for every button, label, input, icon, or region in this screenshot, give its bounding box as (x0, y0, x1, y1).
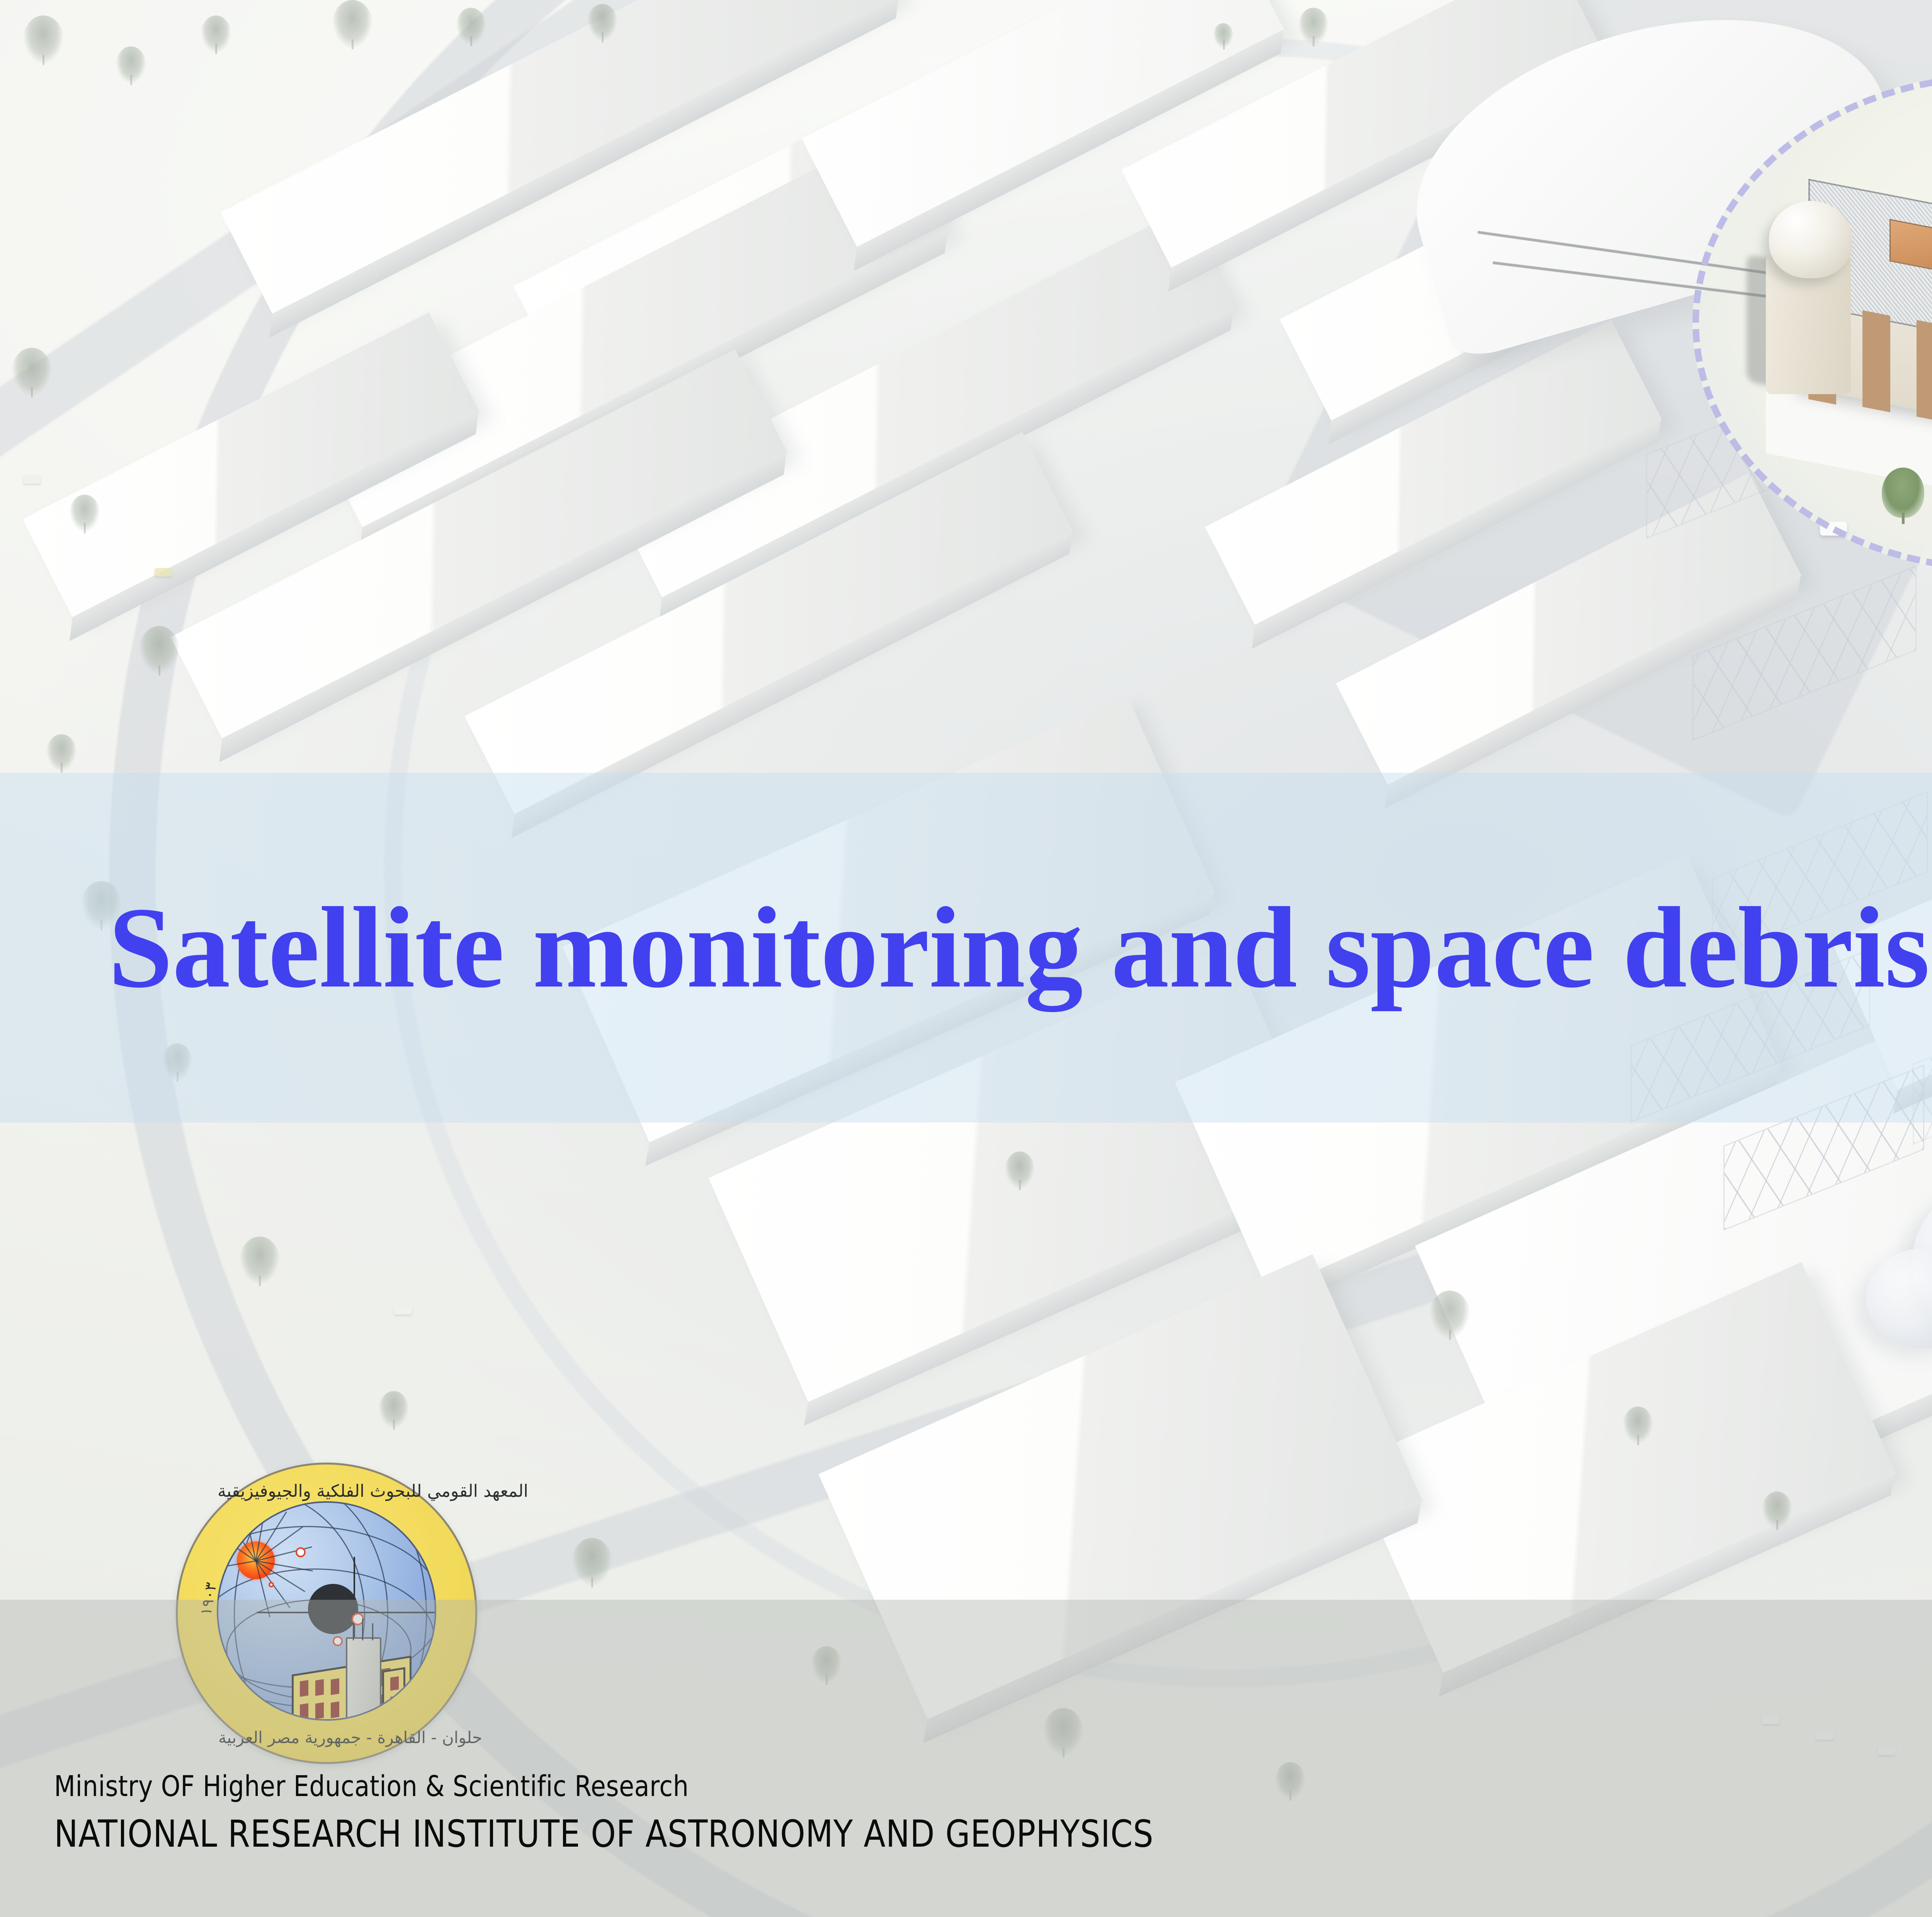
render-tree (1298, 8, 1328, 45)
render-tree (1762, 1492, 1792, 1529)
render-tree (456, 8, 486, 45)
render-tree (201, 15, 231, 53)
render-tree (1623, 1407, 1653, 1444)
render-tree (70, 495, 100, 532)
render-tree (587, 4, 617, 41)
slide-root: Satellite monitoring and space debris la… (0, 0, 1932, 1917)
render-tree (116, 46, 146, 83)
render-car (155, 568, 172, 577)
footer-ministry-line: Ministry OF Higher Education & Scientifi… (54, 1770, 689, 1803)
title-band: Satellite monitoring and space debris la… (0, 773, 1932, 1123)
render-tree (1005, 1152, 1035, 1189)
render-tree (139, 626, 179, 674)
satellite-marker (269, 1582, 274, 1587)
render-tree (332, 0, 372, 48)
render-tree (572, 1538, 612, 1586)
satellite-marker (296, 1547, 306, 1557)
footer-institute-line: NATIONAL RESEARCH INSTITUTE OF ASTRONOMY… (54, 1812, 1153, 1856)
render-tree (46, 734, 77, 771)
render-tree (240, 1237, 280, 1284)
render-tree (23, 15, 63, 63)
render-tree (379, 1391, 409, 1428)
observatory-inset-callout (1692, 73, 1932, 572)
footer-band: Ministry OF Higher Education & Scientifi… (0, 1600, 1932, 1917)
nriag-arabic-top: المعهد القومي للبحوث الفلكية والجيوفيزيق… (218, 1481, 440, 1501)
render-tree (12, 348, 52, 396)
render-tree (1430, 1291, 1470, 1339)
page-title: Satellite monitoring and space debris la… (108, 881, 1932, 1014)
render-car (394, 1306, 412, 1315)
render-car (23, 475, 41, 484)
render-tree (1213, 23, 1233, 48)
